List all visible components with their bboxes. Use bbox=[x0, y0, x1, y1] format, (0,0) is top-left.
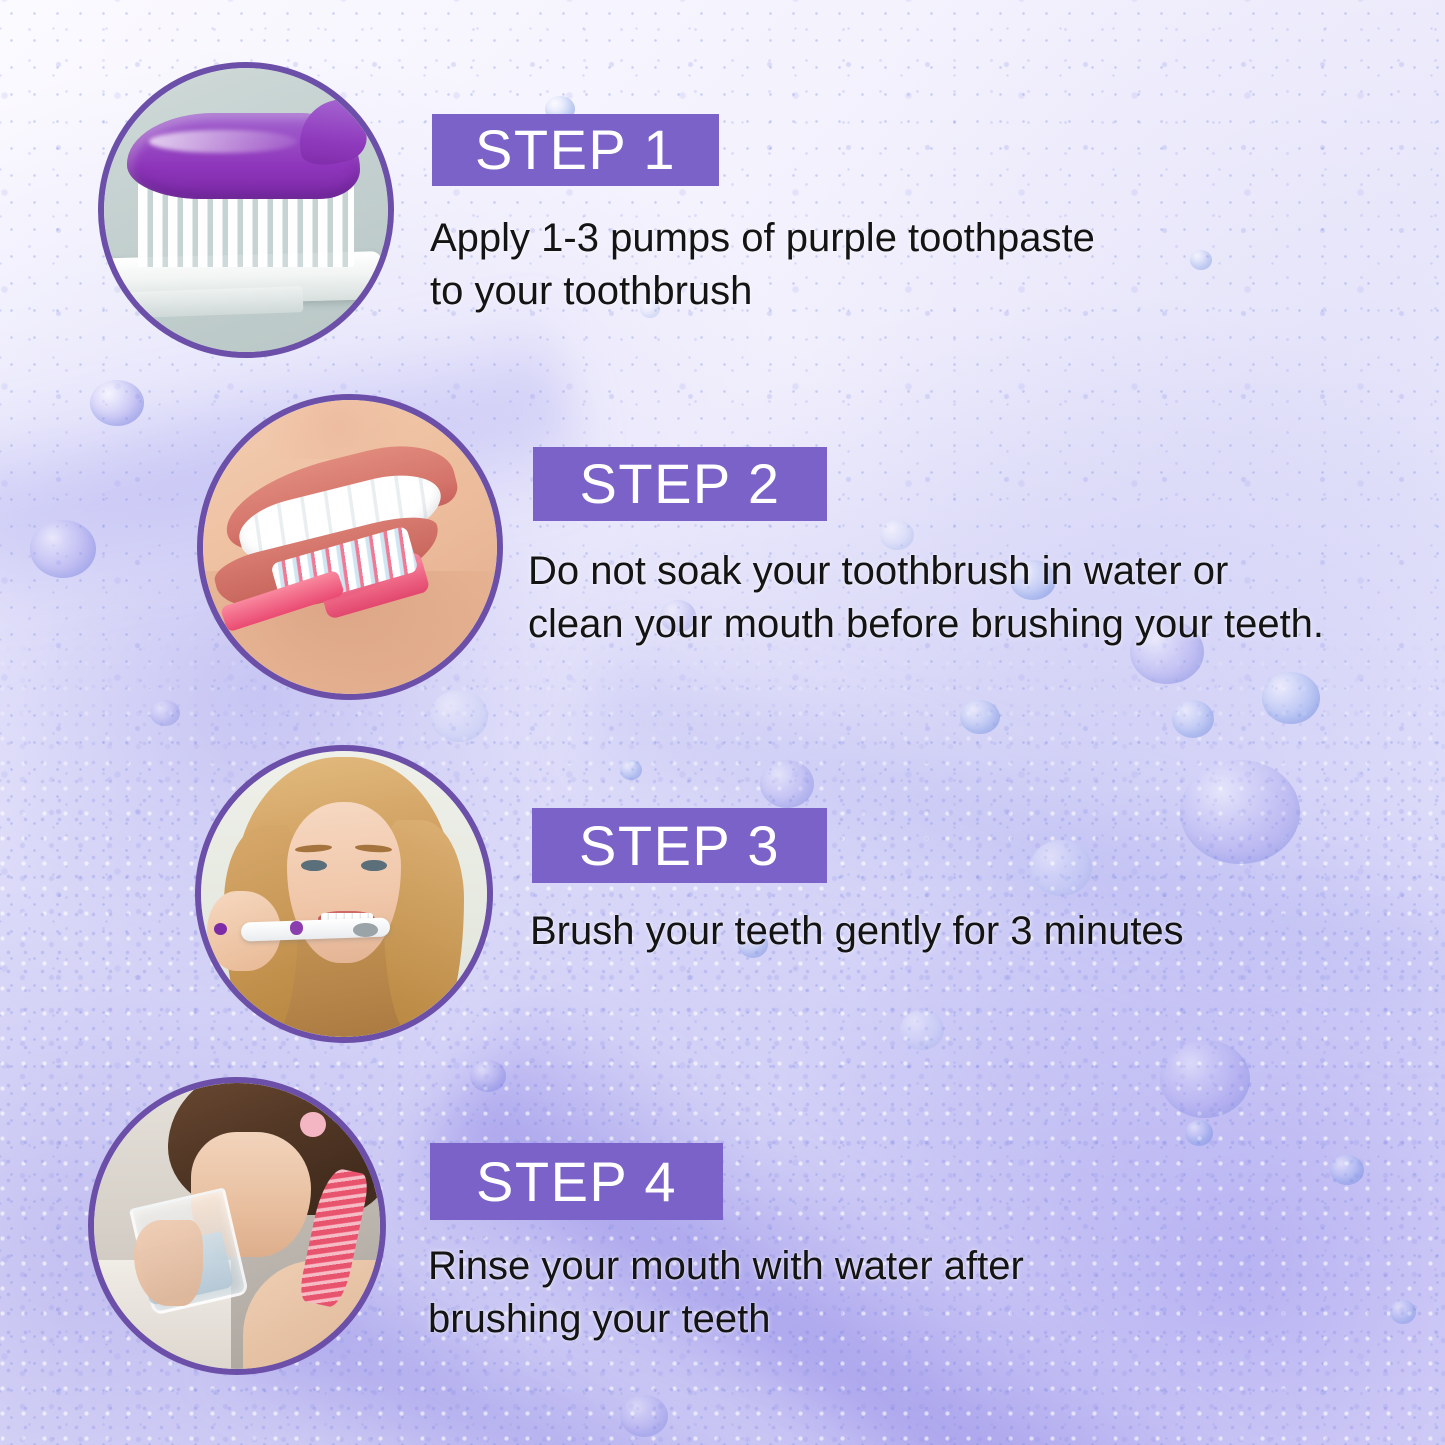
eye-right bbox=[361, 860, 387, 871]
step-3-description: Brush your teeth gently for 3 minutes bbox=[530, 905, 1290, 958]
step-4-photo bbox=[88, 1077, 386, 1375]
toothbrush-head bbox=[353, 923, 379, 937]
bubble bbox=[620, 1395, 668, 1437]
bubble bbox=[1030, 840, 1092, 896]
bubble bbox=[30, 520, 96, 578]
step-3-photo bbox=[195, 745, 493, 1043]
bubble bbox=[470, 1060, 506, 1092]
step-2-photo bbox=[197, 394, 503, 700]
step-1-badge: STEP 1 bbox=[432, 114, 719, 186]
step-4-badge: STEP 4 bbox=[430, 1143, 723, 1220]
bubble bbox=[1160, 1040, 1250, 1118]
bubble bbox=[150, 700, 180, 726]
bubble bbox=[1190, 250, 1212, 270]
step-1-description: Apply 1-3 pumps of purple toothpaste to … bbox=[430, 212, 1170, 318]
toothbrush-purple-accent bbox=[290, 921, 303, 934]
bubble bbox=[1172, 700, 1214, 738]
step-2-badge-label: STEP 2 bbox=[580, 456, 781, 512]
eye-left bbox=[301, 860, 327, 871]
bubble bbox=[1180, 760, 1300, 864]
step-2-badge: STEP 2 bbox=[533, 447, 827, 521]
toothbrush-paste-illustration bbox=[104, 68, 388, 352]
bubble bbox=[620, 760, 642, 780]
smile-toothbrush-illustration bbox=[203, 400, 497, 694]
bubble bbox=[1330, 1155, 1364, 1185]
step-1-badge-label: STEP 1 bbox=[475, 122, 676, 178]
step-1-photo bbox=[98, 62, 394, 358]
woman-drinking-water-illustration bbox=[94, 1083, 380, 1369]
bubble bbox=[1185, 1120, 1213, 1146]
bubble bbox=[760, 760, 814, 808]
woman-brushing-illustration bbox=[201, 751, 487, 1037]
bubble bbox=[1262, 672, 1320, 724]
bubble bbox=[960, 700, 1000, 734]
instruction-infographic: STEP 1 Apply 1-3 pumps of purple toothpa… bbox=[0, 0, 1445, 1445]
step-3-badge-label: STEP 3 bbox=[579, 818, 780, 874]
hair-tie bbox=[300, 1112, 326, 1138]
purple-nail bbox=[214, 923, 227, 935]
step-4-description: Rinse your mouth with water after brushi… bbox=[428, 1240, 1128, 1346]
bubble bbox=[1390, 1300, 1416, 1324]
step-4-badge-label: STEP 4 bbox=[476, 1154, 677, 1210]
step-2-description: Do not soak your toothbrush in water or … bbox=[528, 545, 1408, 651]
bubble bbox=[90, 380, 144, 426]
bubble bbox=[430, 690, 488, 742]
bubble bbox=[900, 1010, 944, 1050]
step-3-badge: STEP 3 bbox=[532, 808, 827, 883]
